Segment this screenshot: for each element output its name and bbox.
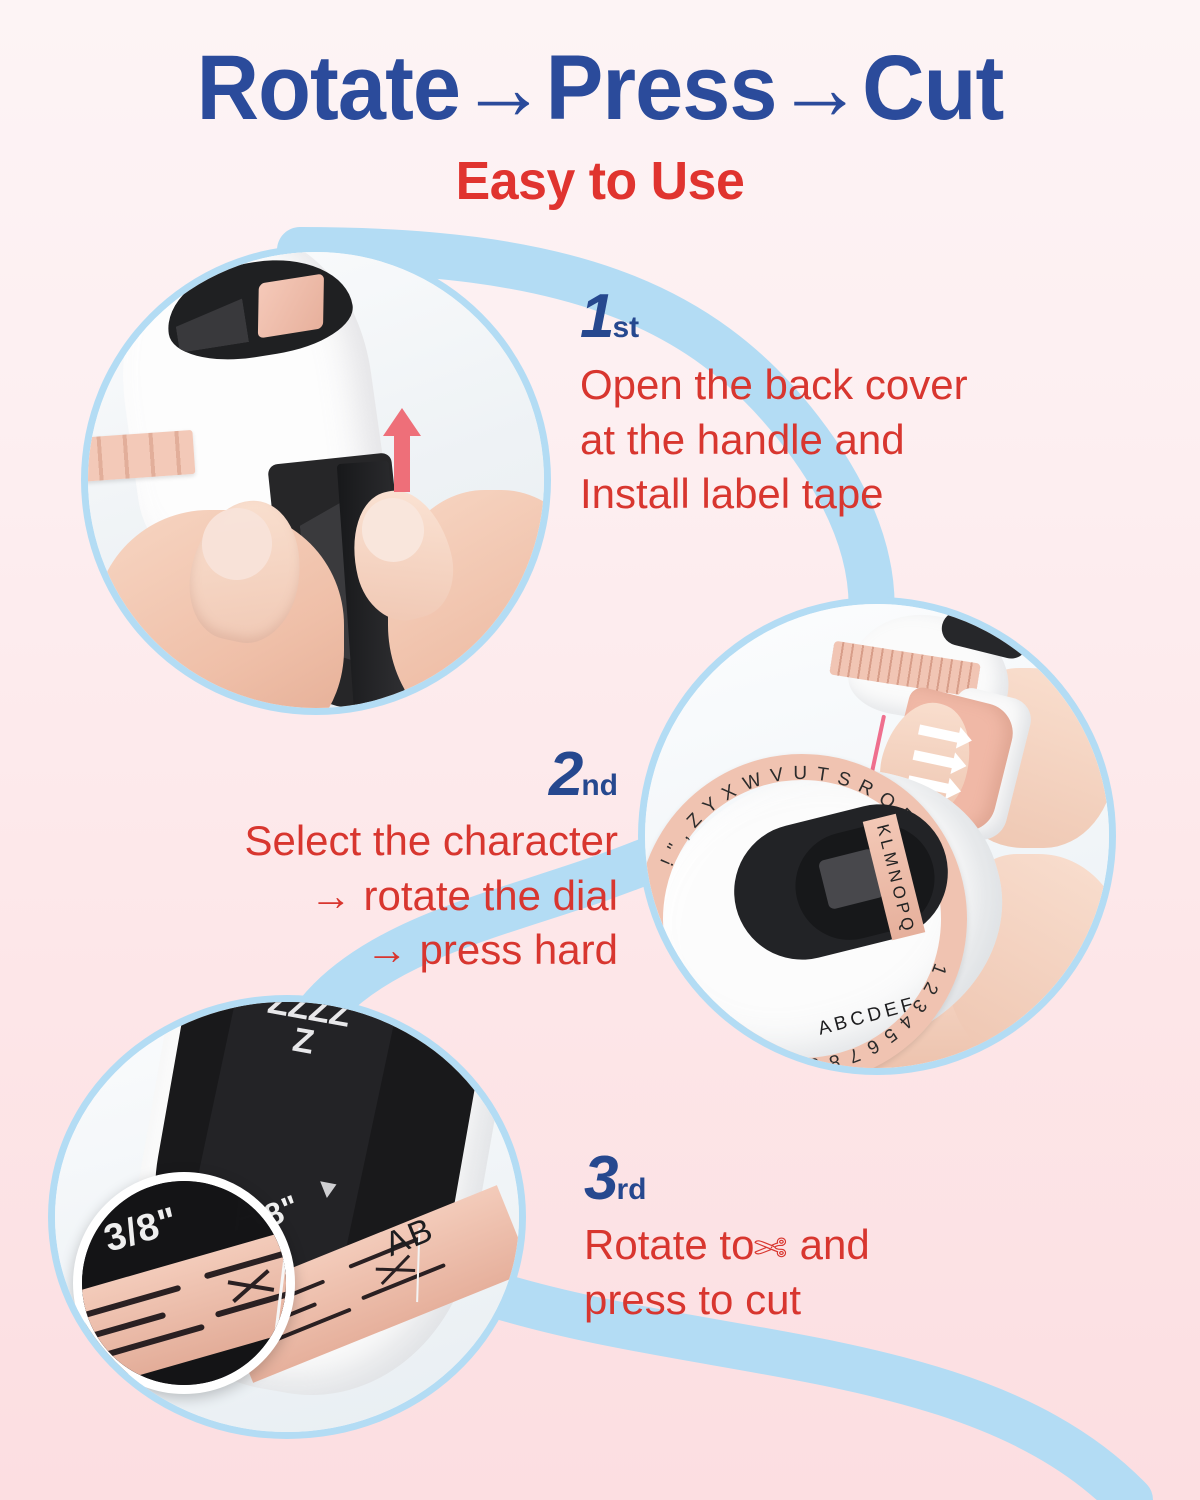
step-3-line-1: Rotate to✄ and (584, 1218, 1054, 1273)
header-block: Rotate→Press→Cut Easy to Use (0, 42, 1200, 212)
step-2-photo: ! " , Z Y X W V U T S R Q P 1 2 3 4 5 6 … (645, 604, 1109, 1068)
step-3-line-2: press to cut (584, 1273, 1054, 1328)
step-1-suffix: st (612, 311, 639, 344)
page-title: Rotate→Press→Cut (36, 42, 1164, 136)
step-1-line-1: Open the back cover (580, 358, 1100, 413)
step-3-text-before-icon: Rotate to (584, 1221, 754, 1268)
scissors-icon: ✄ (754, 1229, 788, 1269)
step-1-number: 1 (580, 282, 612, 351)
step-3-ordinal: 3rd (584, 1148, 1054, 1210)
step-3-text-block: 3rd Rotate to✄ and press to cut (584, 1148, 1054, 1327)
pull-up-arrow-icon (380, 406, 424, 494)
step-1-photo (88, 252, 544, 708)
step-3-photo: ZZZZZZZZZ 3/8" (55, 1002, 519, 1432)
step-3-suffix: rd (616, 1173, 646, 1206)
step-3-text-after-icon: and (800, 1221, 870, 1268)
pink-dial-teeth (88, 430, 195, 482)
page-subtitle: Easy to Use (24, 150, 1176, 212)
step-1-ordinal: 1st (580, 286, 1100, 348)
step-2-line-2: → rotate the dial (78, 869, 618, 924)
step-3-body: Rotate to✄ and press to cut (584, 1218, 1054, 1327)
infographic-canvas: Rotate→Press→Cut Easy to Use (0, 0, 1200, 1500)
step-2-body: Select the character → rotate the dial →… (78, 814, 618, 978)
step-2-line-3: → press hard (78, 923, 618, 978)
step-2-line-1: Select the character (78, 814, 618, 869)
magnifier-inset: 3/8" A 7 (73, 1172, 295, 1394)
step-1-line-3: Install label tape (580, 467, 1100, 522)
step-1-text-block: 1st Open the back cover at the handle an… (580, 286, 1100, 522)
step-1-line-2: at the handle and (580, 413, 1100, 468)
step-2-ordinal: 2nd (78, 744, 618, 806)
step-2-suffix: nd (581, 769, 618, 802)
step-2-number: 2 (549, 740, 581, 809)
step-3-number: 3 (584, 1144, 616, 1213)
step-2-text-block: 2nd Select the character → rotate the di… (78, 744, 618, 978)
step-1-body: Open the back cover at the handle and In… (580, 358, 1100, 522)
